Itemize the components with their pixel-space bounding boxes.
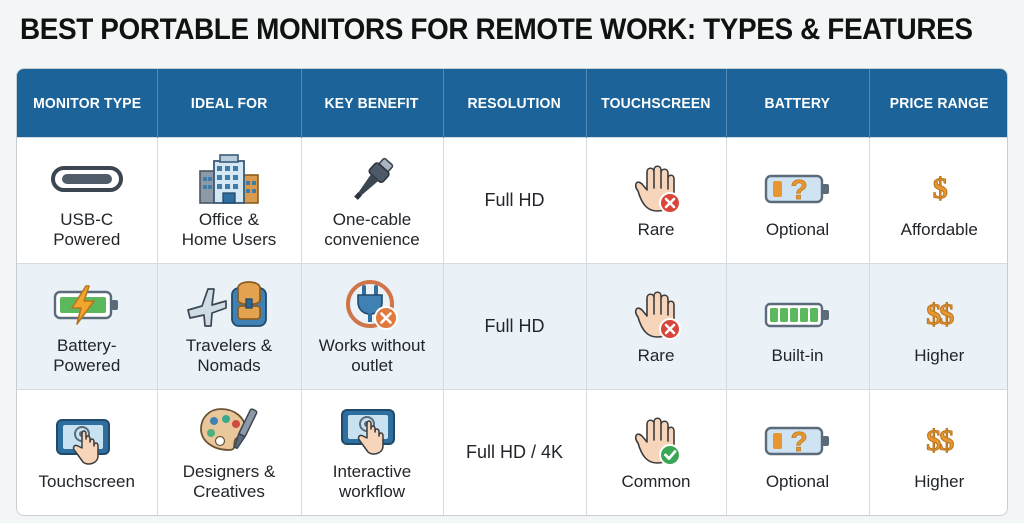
cell-key-benefit: One-cableconvenience — [301, 138, 443, 264]
artist-palette-brush-icon — [197, 404, 261, 458]
cell-key-benefit: Works withoutoutlet — [301, 264, 443, 390]
cell-label: Full HD — [484, 190, 544, 210]
svg-text:?: ? — [790, 174, 807, 205]
column-header-key-benefit: KEY BENEFIT — [301, 69, 443, 138]
cell-label: Works withoutoutlet — [319, 336, 425, 374]
cell-resolution: Full HD / 4K — [443, 390, 586, 515]
double-dollar-sign-icon: $$ — [926, 288, 952, 342]
page-title: BEST PORTABLE MONITORS FOR REMOTE WORK: … — [0, 0, 1024, 60]
column-header-touchscreen: TOUCHSCREEN — [586, 69, 726, 138]
features-table: MONITOR TYPE IDEAL FOR KEY BENEFIT RESOL… — [17, 69, 1008, 515]
svg-text:?: ? — [790, 426, 807, 457]
features-table-container: MONITOR TYPE IDEAL FOR KEY BENEFIT RESOL… — [16, 68, 1008, 516]
cell-label: Interactiveworkflow — [333, 462, 411, 500]
cell-ideal-for: Travelers &Nomads — [157, 264, 301, 390]
cell-label: Higher — [914, 346, 964, 365]
cell-label: Designers &Creatives — [183, 462, 276, 500]
hand-with-green-check-icon — [628, 414, 684, 468]
no-power-outlet-icon — [342, 278, 402, 332]
cell-label: Full HD — [484, 316, 544, 336]
price-symbol: $$ — [926, 424, 952, 458]
cell-touchscreen: Rare — [586, 264, 726, 390]
battery-full-green-icon — [763, 288, 833, 342]
battery-charging-bolt-icon — [52, 278, 122, 332]
price-symbol: $$ — [926, 298, 952, 332]
cell-monitor-type: Battery-Powered — [17, 264, 157, 390]
cell-monitor-type: Touchscreen — [17, 390, 157, 515]
column-header-label: MONITOR TYPE — [33, 95, 141, 112]
cell-label: One-cableconvenience — [324, 210, 419, 248]
column-header-price-range: PRICE RANGE — [869, 69, 1008, 138]
cell-label: Battery-Powered — [53, 336, 120, 374]
column-header-label: PRICE RANGE — [890, 95, 989, 112]
cell-label: Full HD / 4K — [466, 442, 563, 462]
cell-battery: Built-in — [726, 264, 869, 390]
cell-label: Touchscreen — [39, 472, 135, 491]
table-row: Touchscreen — [17, 390, 1008, 515]
cell-touchscreen: Rare — [586, 138, 726, 264]
usb-c-connector-icon — [50, 152, 124, 206]
cell-label: Optional — [766, 220, 829, 239]
touchscreen-tablet-finger-icon — [339, 404, 405, 458]
cell-label: Common — [622, 472, 691, 491]
cell-resolution: Full HD — [443, 264, 586, 390]
touchscreen-tablet-finger-icon — [54, 414, 120, 468]
cell-price-range: $$ Higher — [869, 390, 1008, 515]
office-buildings-icon — [198, 152, 260, 206]
battery-question-mark-icon: ? — [763, 414, 833, 468]
cell-key-benefit: Interactiveworkflow — [301, 390, 443, 515]
column-header-label: IDEAL FOR — [191, 95, 268, 112]
cell-label: Higher — [914, 472, 964, 491]
table-row: Battery-Powered — [17, 264, 1008, 390]
cell-label: Built-in — [772, 346, 824, 365]
hand-with-red-x-icon — [628, 162, 684, 216]
usb-cable-plug-icon — [342, 152, 402, 206]
price-symbol: $ — [933, 172, 946, 206]
battery-question-mark-icon: ? — [763, 162, 833, 216]
column-header-label: BATTERY — [765, 95, 831, 112]
table-row: USB-CPowered — [17, 138, 1008, 264]
cell-ideal-for: Designers &Creatives — [157, 390, 301, 515]
cell-label: Rare — [638, 346, 675, 365]
column-header-label: KEY BENEFIT — [325, 95, 419, 112]
table-header-row: MONITOR TYPE IDEAL FOR KEY BENEFIT RESOL… — [17, 69, 1008, 138]
cell-ideal-for: Office &Home Users — [157, 138, 301, 264]
double-dollar-sign-icon: $$ — [926, 414, 952, 468]
cell-touchscreen: Common — [586, 390, 726, 515]
airplane-backpack-icon — [186, 278, 272, 332]
page-title-text: BEST PORTABLE MONITORS FOR REMOTE WORK: … — [20, 13, 973, 47]
cell-battery: ? Optional — [726, 138, 869, 264]
cell-label: Travelers &Nomads — [186, 336, 272, 374]
column-header-label: TOUCHSCREEN — [601, 95, 711, 112]
cell-label: USB-CPowered — [53, 210, 120, 248]
cell-label: Optional — [766, 472, 829, 491]
cell-battery: ? Optional — [726, 390, 869, 515]
cell-price-range: $ Affordable — [869, 138, 1008, 264]
column-header-monitor-type: MONITOR TYPE — [17, 69, 157, 138]
column-header-label: RESOLUTION — [468, 95, 561, 112]
cell-label: Affordable — [901, 220, 978, 239]
column-header-resolution: RESOLUTION — [443, 69, 586, 138]
cell-label: Office &Home Users — [182, 210, 276, 248]
column-header-battery: BATTERY — [726, 69, 869, 138]
cell-price-range: $$ Higher — [869, 264, 1008, 390]
hand-with-red-x-icon — [628, 288, 684, 342]
column-header-ideal-for: IDEAL FOR — [157, 69, 301, 138]
table-body: USB-CPowered — [17, 138, 1008, 516]
cell-label: Rare — [638, 220, 675, 239]
cell-monitor-type: USB-CPowered — [17, 138, 157, 264]
dollar-sign-icon: $ — [933, 162, 946, 216]
cell-resolution: Full HD — [443, 138, 586, 264]
